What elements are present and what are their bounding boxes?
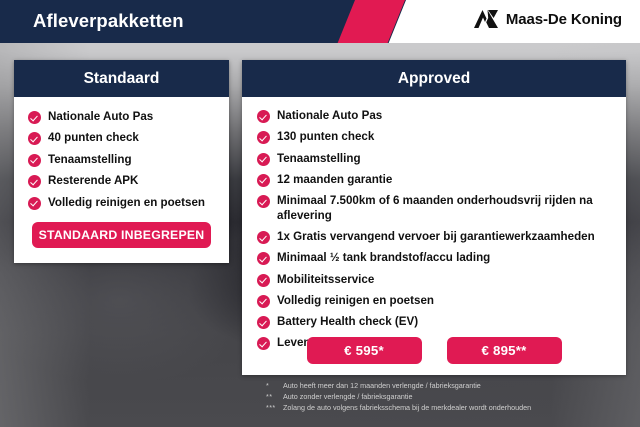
card-approved-heading: Approved <box>242 60 626 97</box>
card-approved: Approved Nationale Auto Pas130 punten ch… <box>242 60 626 375</box>
feature-label: Resterende APK <box>48 174 138 187</box>
approved-feature-item: Battery Health check (EV) <box>257 315 626 330</box>
feature-label: Tenaamstelling <box>48 153 132 166</box>
card-standaard: Standaard Nationale Auto Pas40 punten ch… <box>14 60 229 263</box>
feature-label: 130 punten check <box>277 130 374 145</box>
approved-price-buttons: € 595*€ 895** <box>242 337 626 364</box>
feature-label: Minimaal ½ tank brandstof/accu lading <box>277 251 490 266</box>
card-standaard-body: Nationale Auto Pas40 punten checkTenaams… <box>14 97 229 210</box>
brand-logo: Maas-De Koning <box>473 9 622 29</box>
check-circle-icon <box>28 132 41 145</box>
approved-feature-item: 130 punten check <box>257 130 626 145</box>
approved-feature-item: Nationale Auto Pas <box>257 109 626 124</box>
approved-feature-item: 12 maanden garantie <box>257 173 626 188</box>
footnote-row: **Auto zonder verlengde / fabrieksgarant… <box>266 391 626 402</box>
feature-label: Minimaal 7.500km of 6 maanden onderhouds… <box>277 194 626 223</box>
footnote-row: *Auto heeft meer dan 12 maanden verlengd… <box>266 380 626 391</box>
footnote-text: Auto heeft meer dan 12 maanden verlengde… <box>283 380 626 391</box>
standaard-feature-item: Tenaamstelling <box>28 153 229 167</box>
check-circle-icon <box>257 295 270 308</box>
brand-name: Maas-De Koning <box>506 11 622 28</box>
check-circle-icon <box>257 231 270 244</box>
check-circle-icon <box>257 316 270 329</box>
standaard-inbegrepen-button[interactable]: STANDAARD INBEGREPEN <box>32 222 211 248</box>
page-title: Afleverpakketten <box>33 10 184 32</box>
standaard-feature-item: Volledig reinigen en poetsen <box>28 196 229 210</box>
approved-feature-item: Tenaamstelling <box>257 152 626 167</box>
approved-feature-item: Mobiliteitsservice <box>257 273 626 288</box>
standaard-feature-item: Nationale Auto Pas <box>28 110 229 124</box>
feature-label: Volledig reinigen en poetsen <box>48 196 205 209</box>
approved-feature-list: Nationale Auto Pas130 punten checkTenaam… <box>242 97 626 351</box>
price-button-2[interactable]: € 895** <box>447 337 562 364</box>
footnote-row: ***Zolang de auto volgens fabrieksschema… <box>266 402 626 413</box>
check-circle-icon <box>257 274 270 287</box>
check-circle-icon <box>257 195 270 208</box>
feature-label: Mobiliteitsservice <box>277 273 374 288</box>
card-approved-body: Nationale Auto Pas130 punten checkTenaam… <box>242 97 626 351</box>
footnote-text: Zolang de auto volgens fabrieksschema bi… <box>283 402 626 413</box>
maas-de-koning-m-logo-icon <box>473 9 499 29</box>
approved-feature-item: Minimaal ½ tank brandstof/accu lading <box>257 251 626 266</box>
feature-label: Battery Health check (EV) <box>277 315 418 330</box>
feature-label: 12 maanden garantie <box>277 173 392 188</box>
check-circle-icon <box>257 131 270 144</box>
feature-label: Nationale Auto Pas <box>48 110 153 123</box>
standaard-feature-item: 40 punten check <box>28 131 229 145</box>
feature-label: 40 punten check <box>48 131 139 144</box>
check-circle-icon <box>257 174 270 187</box>
check-circle-icon <box>28 197 41 210</box>
footnote-marker: *** <box>266 402 283 413</box>
check-circle-icon <box>257 153 270 166</box>
footnote-marker: ** <box>266 391 283 402</box>
feature-label: 1x Gratis vervangend vervoer bij garanti… <box>277 230 595 245</box>
footnote-text: Auto zonder verlengde / fabrieksgarantie <box>283 391 626 402</box>
feature-label: Volledig reinigen en poetsen <box>277 294 434 309</box>
approved-feature-item: Volledig reinigen en poetsen <box>257 294 626 309</box>
check-circle-icon <box>28 111 41 124</box>
feature-label: Nationale Auto Pas <box>277 109 382 124</box>
card-standaard-heading: Standaard <box>14 60 229 97</box>
check-circle-icon <box>257 252 270 265</box>
standaard-feature-list: Nationale Auto Pas40 punten checkTenaams… <box>14 97 229 210</box>
footnote-marker: * <box>266 380 283 391</box>
standaard-feature-item: Resterende APK <box>28 174 229 188</box>
check-circle-icon <box>28 154 41 167</box>
feature-label: Tenaamstelling <box>277 152 361 167</box>
check-circle-icon <box>28 175 41 188</box>
approved-feature-item: Minimaal 7.500km of 6 maanden onderhouds… <box>257 194 626 223</box>
approved-feature-item: 1x Gratis vervangend vervoer bij garanti… <box>257 230 626 245</box>
page-header: Afleverpakketten Maas-De Koning <box>0 0 640 43</box>
price-button-1[interactable]: € 595* <box>307 337 422 364</box>
footnotes: *Auto heeft meer dan 12 maanden verlengd… <box>266 380 626 414</box>
check-circle-icon <box>257 110 270 123</box>
afleverpakketten-page: Afleverpakketten Maas-De Koning Standaar… <box>0 0 640 427</box>
